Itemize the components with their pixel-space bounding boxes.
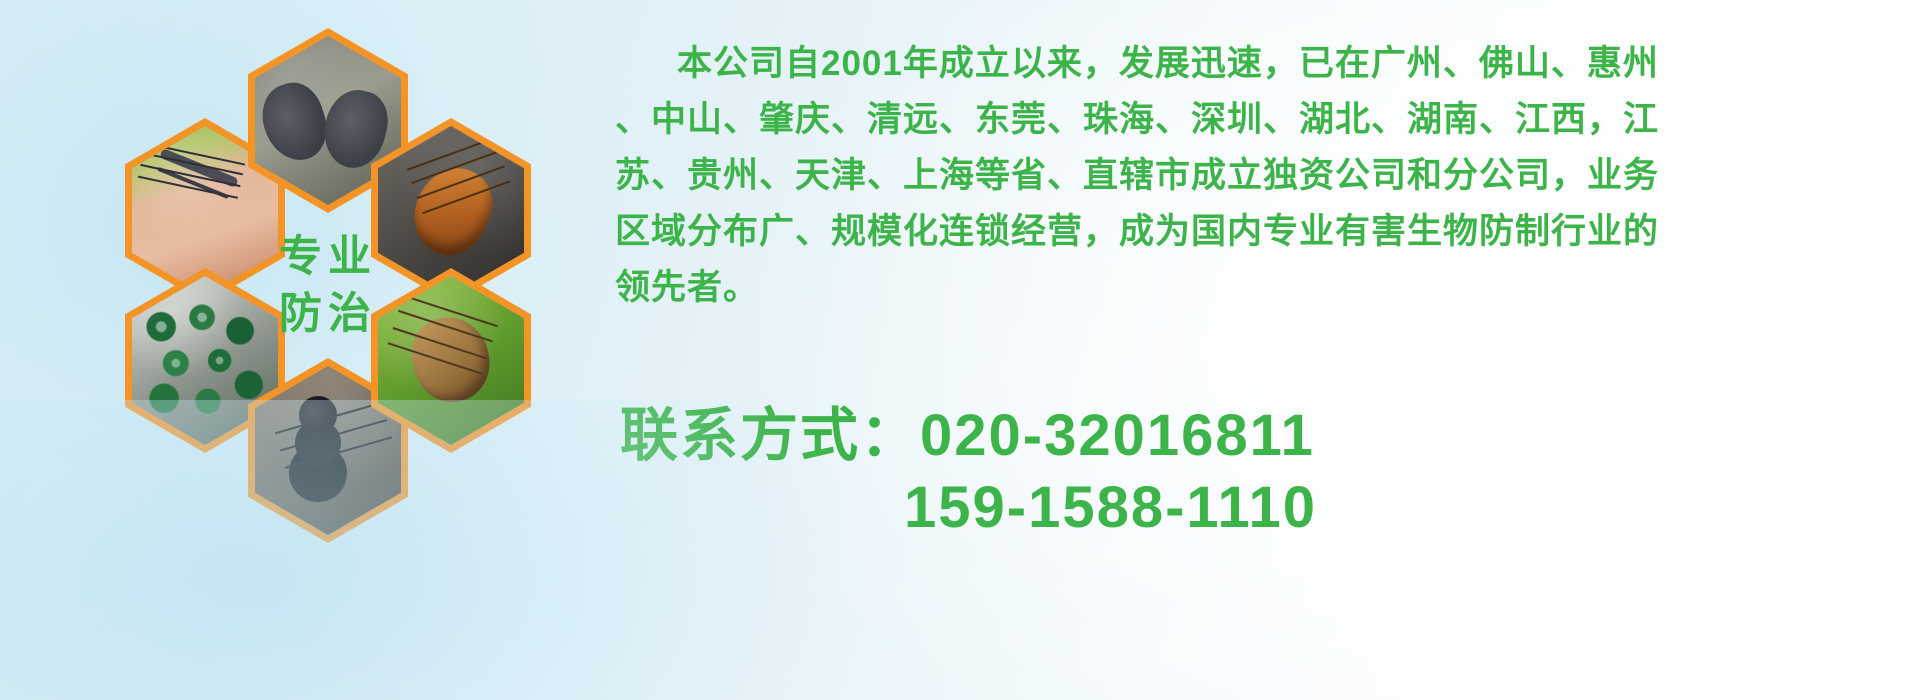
description-line-3: 苏、贵州、天津、上海等省、直辖市成立独资公司和分公司，业务	[615, 148, 1910, 204]
description-line-4: 区域分布广、规模化连锁经营，成为国内专业有害生物防制行业的	[615, 204, 1910, 260]
description-line-5: 领先者。	[615, 260, 1910, 316]
honeycomb-gallery: 专业 防治	[95, 10, 595, 570]
center-label-line-1: 专业	[279, 229, 377, 286]
description-line-2: 、中山、肇庆、清远、东莞、珠海、深圳、湖北、湖南、江西，江	[615, 92, 1910, 148]
promo-banner: 专业 防治 本公司自2001年成立以来，发展迅速，已在广州、佛山、惠州 、中山、…	[0, 0, 1920, 700]
description-line-1: 本公司自2001年成立以来，发展迅速，已在广州、佛山、惠州	[615, 36, 1910, 92]
contact-block: 联系方式：020-32016811 159-1588-1110	[620, 400, 1910, 544]
contact-phone-primary[interactable]: 联系方式：020-32016811	[620, 400, 1910, 472]
center-label-line-2: 防治	[279, 286, 377, 343]
company-description: 本公司自2001年成立以来，发展迅速，已在广州、佛山、惠州 、中山、肇庆、清远、…	[615, 36, 1910, 316]
honeycomb-center-text: 专业 防治	[279, 229, 377, 343]
contact-phone-secondary[interactable]: 159-1588-1110	[620, 472, 1910, 544]
